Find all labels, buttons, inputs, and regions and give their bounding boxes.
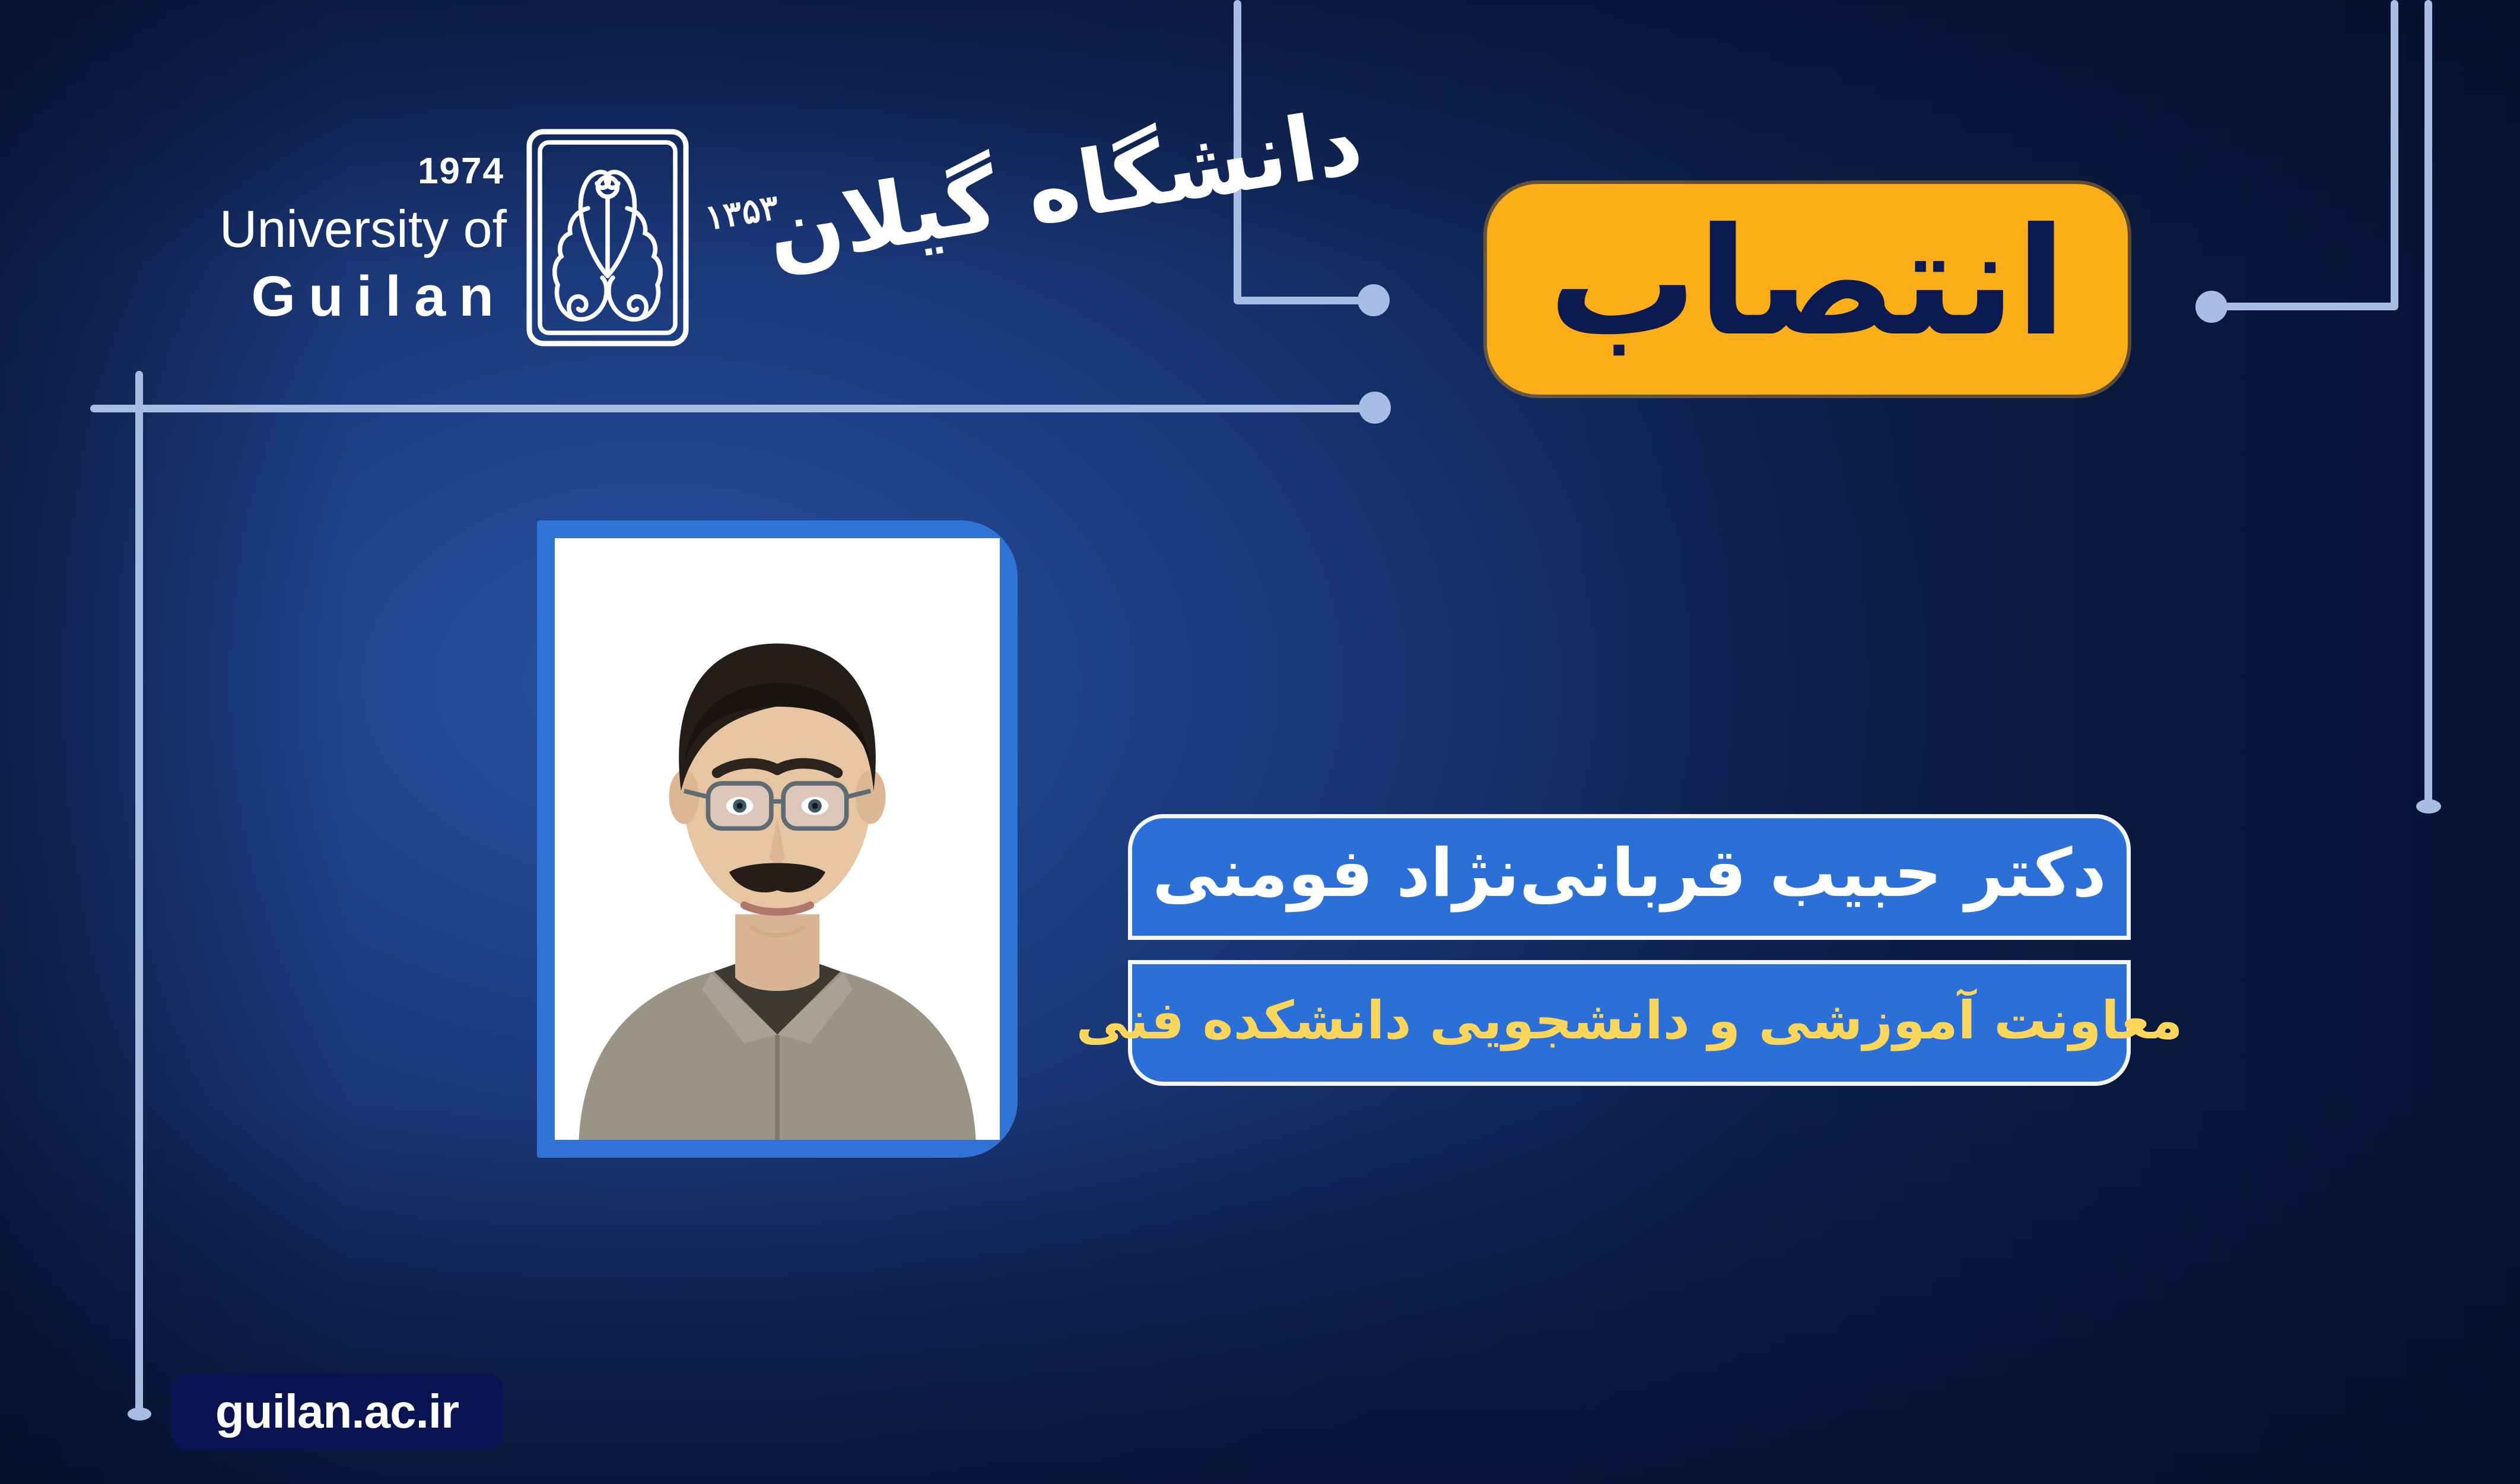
person-position-banner: معاونت آموزشی و دانشجویی دانشکده فنی — [1128, 960, 2131, 1086]
website-url-text: guilan.ac.ir — [215, 1384, 459, 1439]
person-position-text: معاونت آموزشی و دانشجویی دانشکده فنی — [1076, 994, 2182, 1047]
logo-founding-year-en: 1974 — [418, 150, 504, 192]
person-name-banner: دکتر حبیب قربانی‌نژاد فومنی — [1128, 814, 2131, 940]
appointment-badge: انتصاب — [1487, 184, 2128, 395]
logo-english-text: 1974 University of Guilan — [178, 139, 510, 335]
decor-dot-left-bottom — [128, 1407, 151, 1421]
decor-dot-right-horizontal-end — [2195, 291, 2227, 323]
poster-canvas: 1974 University of Guilan ۱۳۵۳ دانشگاه گ… — [0, 0, 2520, 1484]
decor-line-right-vertical-long — [2424, 0, 2432, 807]
decor-line-right-vertical-short — [2391, 0, 2398, 309]
guilan-butterfly-emblem-icon — [519, 139, 697, 335]
person-name-text: دکتر حبیب قربانی‌نژاد فومنی — [1152, 840, 2106, 907]
decor-dot-top-middle-end — [1358, 284, 1390, 316]
decor-line-right-horizontal — [2205, 303, 2398, 310]
decor-line-left-vertical — [135, 371, 143, 1415]
decor-line-top-middle-horizontal — [1234, 297, 1369, 304]
university-logo: 1974 University of Guilan ۱۳۵۳ دانشگاه گ… — [178, 119, 1222, 356]
logo-guilan-label: Guilan — [251, 264, 507, 329]
decor-line-left-horizontal — [90, 405, 1372, 412]
portrait-photo — [555, 538, 1000, 1140]
logo-university-name-fa: دانشگاه گیلان — [760, 90, 1369, 286]
decor-dot-right-bottom — [2416, 799, 2441, 814]
decor-dot-left-horizontal-end — [1359, 392, 1391, 424]
website-badge[interactable]: guilan.ac.ir — [171, 1374, 503, 1450]
portrait-photo-frame — [537, 520, 1018, 1158]
appointment-badge-label: انتصاب — [1548, 208, 2066, 357]
logo-persian-text: ۱۳۵۳ دانشگاه گیلان — [705, 131, 1144, 344]
logo-university-of-label: University of — [220, 199, 507, 259]
